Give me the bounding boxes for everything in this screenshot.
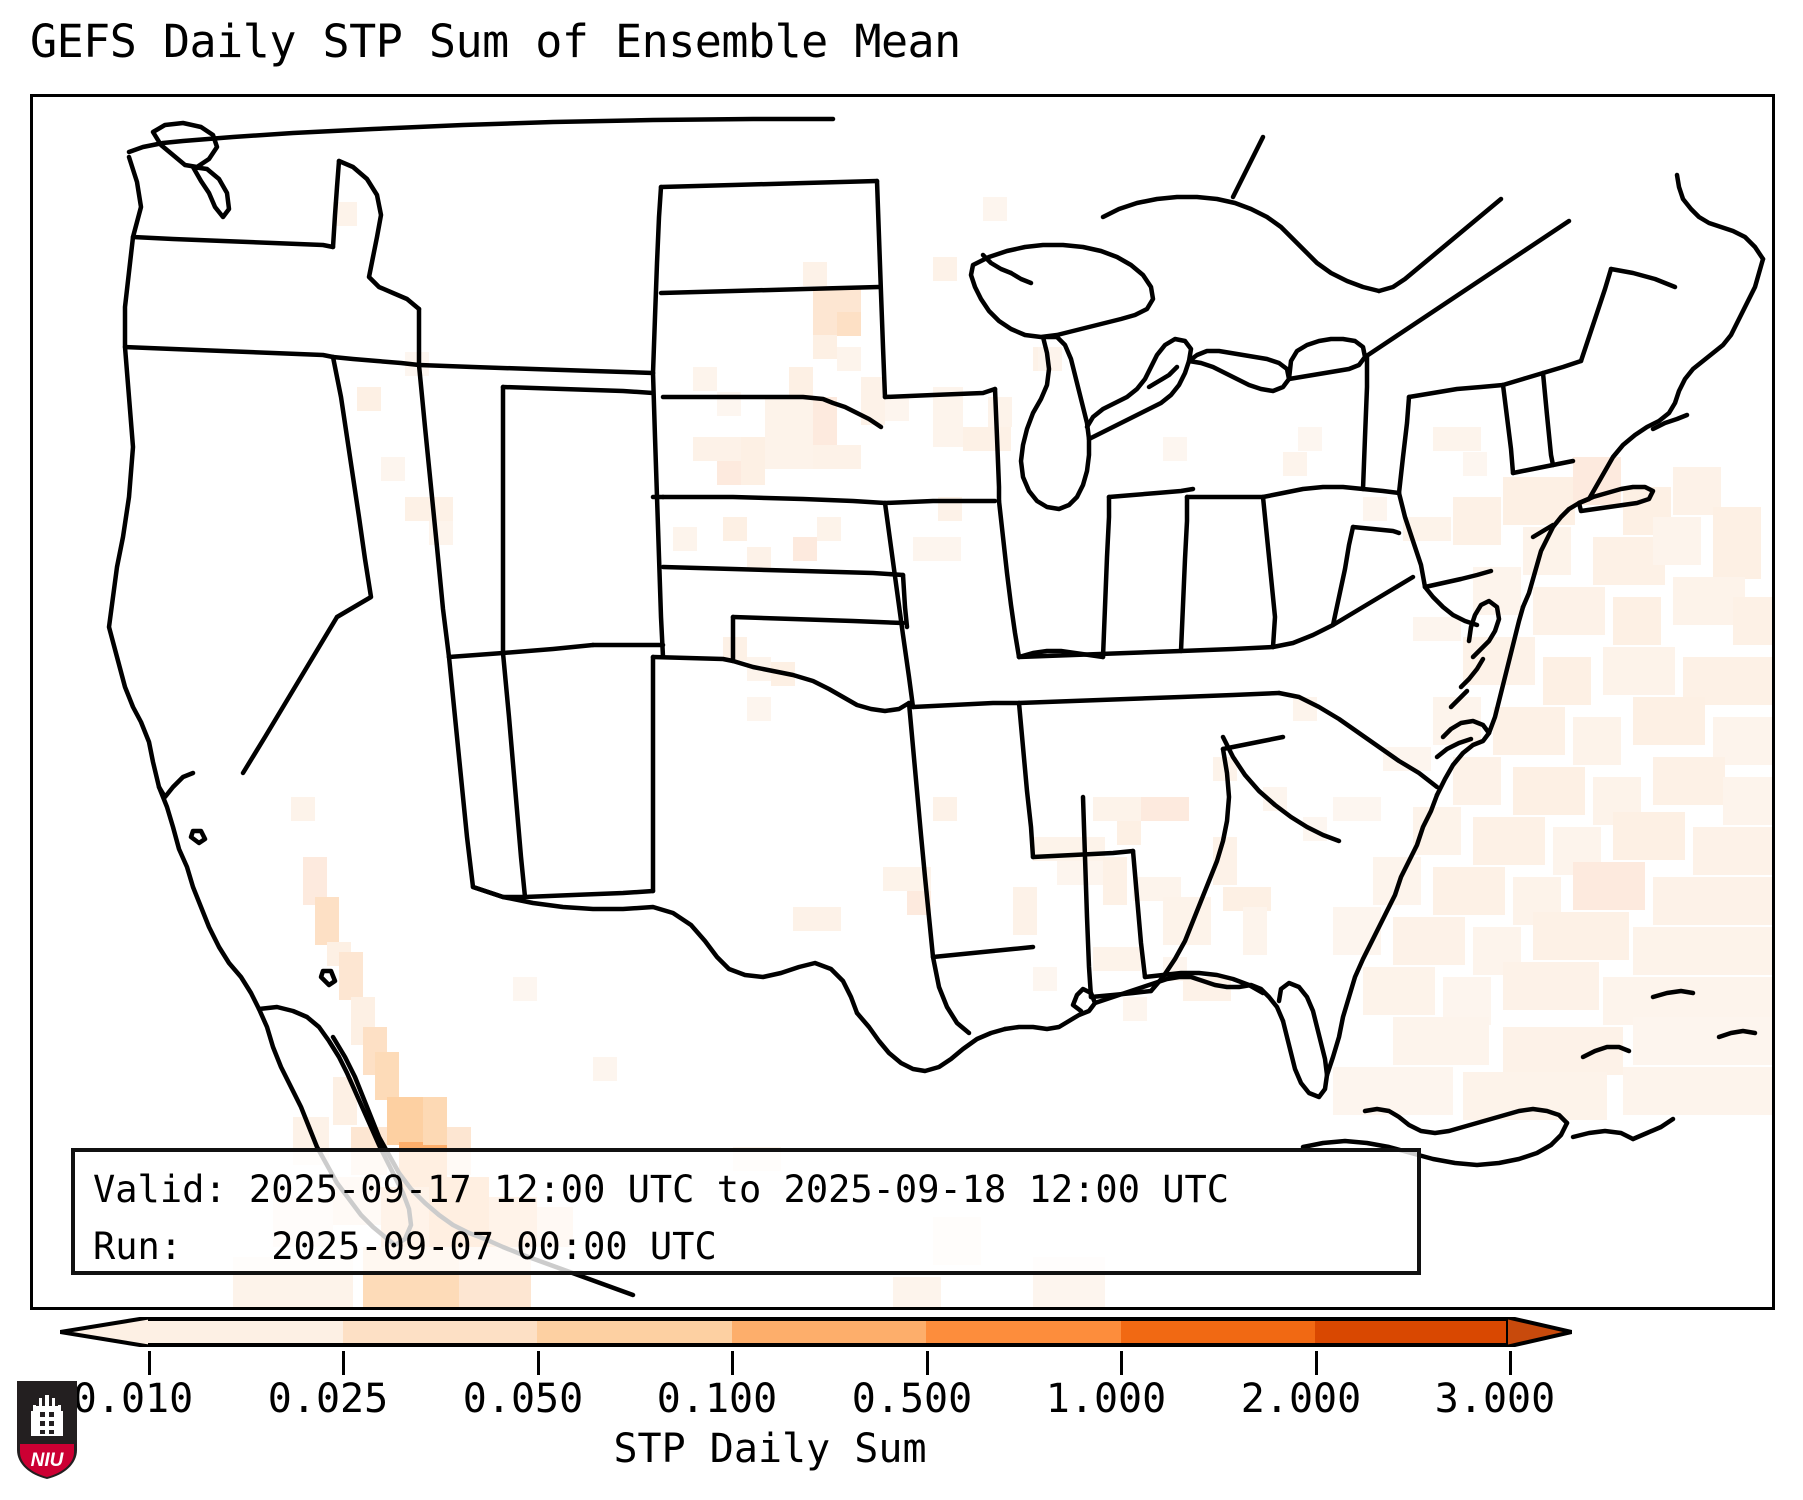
colorbar-label-1: 0.025 (268, 1375, 388, 1423)
colorbar-band-0 (148, 1321, 343, 1343)
niu-shield-icon: NIU (14, 1378, 80, 1482)
geography-layer (33, 97, 1772, 1307)
colorbar-label-0: 0.010 (73, 1375, 193, 1423)
colorbar-band-4 (926, 1321, 1121, 1343)
colorbar-label-5: 1.000 (1046, 1375, 1166, 1423)
colorbar-band-3 (732, 1321, 927, 1343)
colorbar-tick-5 (1120, 1351, 1123, 1375)
colorbar-band-5 (1121, 1321, 1316, 1343)
colorbar-tick-0 (148, 1351, 151, 1375)
coastlines-and-borders (33, 97, 1772, 1307)
colorbar-tick-1 (342, 1351, 345, 1375)
colorbar-axis-title: STP Daily Sum (0, 1424, 1540, 1474)
forecast-info-box: Valid: 2025-09-17 12:00 UTC to 2025-09-1… (71, 1148, 1421, 1275)
valid-time-text: Valid: 2025-09-17 12:00 UTC to 2025-09-1… (93, 1161, 1417, 1218)
niu-logo: NIU (14, 1378, 80, 1482)
colorbar-over-cap (1506, 1317, 1572, 1347)
map-plot-area: Valid: 2025-09-17 12:00 UTC to 2025-09-1… (30, 94, 1775, 1310)
colorbar-label-7: 3.000 (1435, 1375, 1555, 1423)
colorbar-tick-7 (1509, 1351, 1512, 1375)
run-time-text: Run: 2025-09-07 00:00 UTC (93, 1218, 1417, 1275)
colorbar-label-6: 2.000 (1241, 1375, 1361, 1423)
colorbar-band-1 (343, 1321, 538, 1343)
colorbar-tick-4 (926, 1351, 929, 1375)
colorbar-label-2: 0.050 (463, 1375, 583, 1423)
page-title: GEFS Daily STP Sum of Ensemble Mean (30, 14, 961, 70)
colorbar-bands (148, 1317, 1510, 1347)
colorbar (60, 1317, 1510, 1351)
colorbar-band-2 (537, 1321, 732, 1343)
colorbar-ticks (0, 1351, 1803, 1377)
colorbar-tick-2 (537, 1351, 540, 1375)
colorbar-label-4: 0.500 (852, 1375, 972, 1423)
colorbar-label-3: 0.100 (657, 1375, 777, 1423)
colorbar-tick-6 (1315, 1351, 1318, 1375)
colorbar-tick-3 (731, 1351, 734, 1375)
colorbar-under-cap (60, 1317, 152, 1347)
colorbar-tick-labels: 0.010 0.025 0.050 0.100 0.500 1.000 2.00… (0, 1375, 1803, 1425)
niu-logo-text: NIU (31, 1450, 65, 1471)
colorbar-band-6 (1315, 1321, 1510, 1343)
